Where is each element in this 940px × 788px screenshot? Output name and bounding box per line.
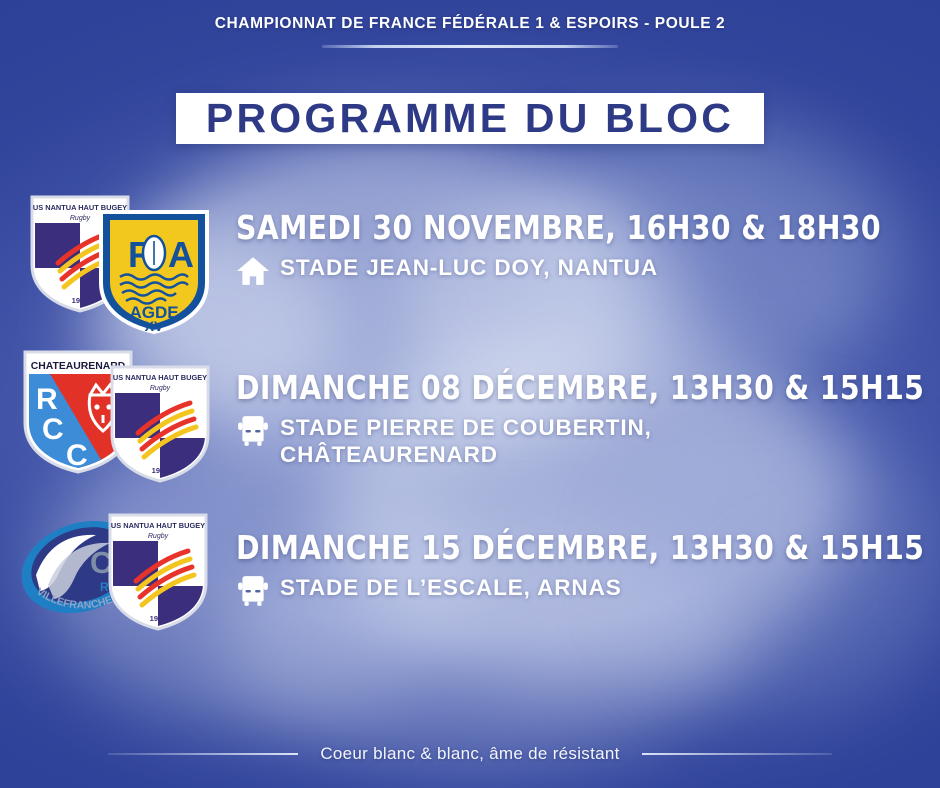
bus-icon (236, 415, 270, 447)
match-venue-line: STADE JEAN-LUC DOY, NANTUA (236, 254, 910, 287)
match-row: R C C CHA (0, 345, 940, 505)
match-crests: CSV RUGBY VILLEFRANCHE BEAUJOLAIS (18, 505, 223, 645)
match-list: US NANTUA HAUT BUGEY Rugby 1949 R A (0, 185, 940, 665)
match-venue-line2: CHÂTEAURENARD (280, 442, 498, 467)
crest-agde: R A AGDE XV (96, 207, 212, 335)
crest-nantua: US NANTUA HAUT BUGEY Rugby 1949 (108, 363, 212, 485)
crest-nantua-year: 1949 (150, 614, 167, 623)
match-venue-line: STADE DE L’ESCALE, ARNAS (236, 574, 910, 607)
crest-nantua-name: US NANTUA HAUT BUGEY (111, 521, 205, 530)
crest-nantua-sub: Rugby (148, 533, 169, 540)
page-title: PROGRAMME DU BLOC (206, 98, 734, 139)
crest-nantua: US NANTUA HAUT BUGEY Rugby 1949 (106, 511, 210, 633)
match-venue: STADE DE L’ESCALE, ARNAS (280, 574, 622, 601)
match-venue: STADE JEAN-LUC DOY, NANTUA (280, 254, 658, 281)
home-icon (236, 255, 270, 287)
title-banner: PROGRAMME DU BLOC (176, 93, 764, 144)
header-divider (322, 45, 618, 48)
crest-nantua-sub: Rugby (70, 215, 91, 222)
match-crests: US NANTUA HAUT BUGEY Rugby 1949 R A (18, 185, 223, 325)
crest-nantua-name: US NANTUA HAUT BUGEY (113, 373, 207, 382)
match-venue-line: STADE PIERRE DE COUBERTIN,CHÂTEAURENARD (236, 414, 910, 469)
match-row: US NANTUA HAUT BUGEY Rugby 1949 R A (0, 185, 940, 345)
match-crests: R C C CHA (18, 345, 223, 485)
championship-subtitle: CHAMPIONNAT DE FRANCE FÉDÉRALE 1 & ESPOI… (0, 15, 940, 33)
match-date: DIMANCHE 08 DÉCEMBRE, 13H30 & 15H15 (236, 371, 816, 405)
crest-agde-letter-a: A (168, 234, 194, 275)
match-info: SAMEDI 30 NOVEMBRE, 16H30 & 18H30 STADE … (236, 211, 910, 287)
match-row: CSV RUGBY VILLEFRANCHE BEAUJOLAIS (0, 505, 940, 665)
match-info: DIMANCHE 15 DÉCEMBRE, 13H30 & 15H15 STAD… (236, 531, 910, 607)
crest-nantua-year: 1949 (72, 296, 89, 305)
match-venue-line1: STADE PIERRE DE COUBERTIN, (280, 415, 652, 440)
crest-agde-xv: XV (145, 318, 164, 334)
footer-tagline: Coeur blanc & blanc, âme de résistant (320, 744, 619, 764)
match-date: DIMANCHE 15 DÉCEMBRE, 13H30 & 15H15 (236, 531, 816, 565)
match-info: DIMANCHE 08 DÉCEMBRE, 13H30 & 15H15 STAD… (236, 371, 910, 469)
match-venue: STADE PIERRE DE COUBERTIN,CHÂTEAURENARD (280, 414, 652, 469)
footer-rule-left (108, 753, 298, 755)
crest-nantua-year: 1949 (152, 466, 169, 475)
crest-rcc-letter-r: R (36, 383, 58, 416)
footer: Coeur blanc & blanc, âme de résistant (0, 744, 940, 764)
poster: CHAMPIONNAT DE FRANCE FÉDÉRALE 1 & ESPOI… (0, 0, 940, 788)
crest-rcc-letter-c1: C (42, 413, 64, 446)
bus-icon (236, 575, 270, 607)
footer-rule-right (642, 753, 832, 755)
crest-nantua-sub: Rugby (150, 385, 171, 392)
match-date: SAMEDI 30 NOVEMBRE, 16H30 & 18H30 (236, 211, 816, 245)
